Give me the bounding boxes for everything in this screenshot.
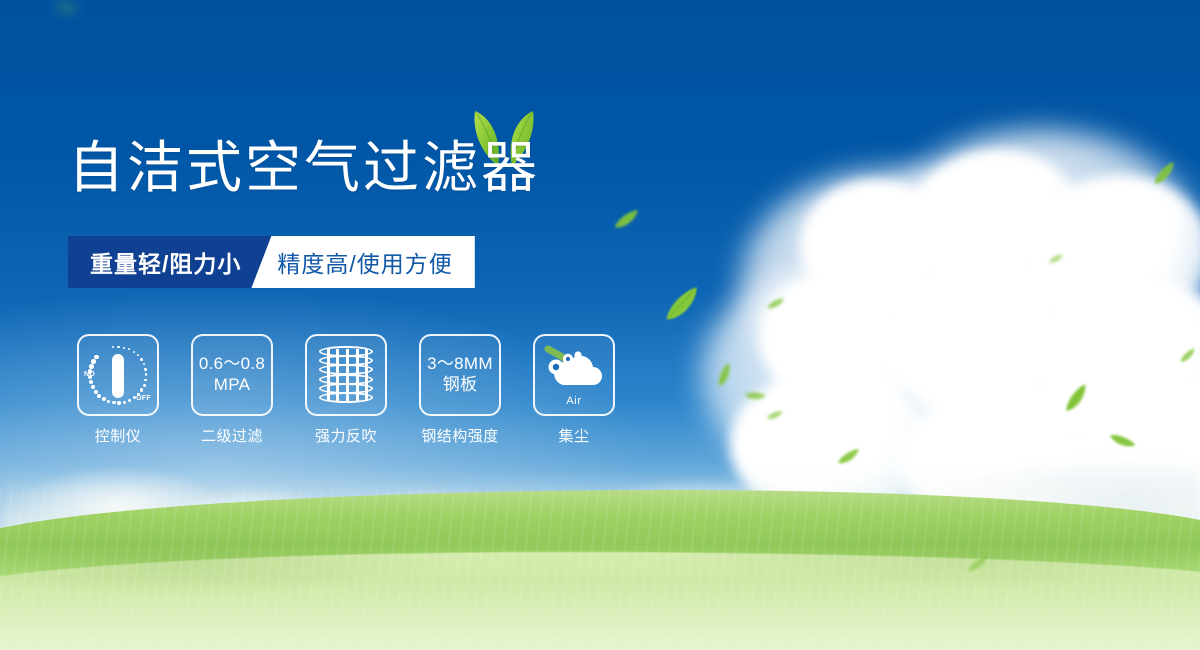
- product-banner: 自洁式空气过滤器 重量轻/阻力小 精度高/使用方便 NO OFF 控制仪 0.6…: [0, 0, 1200, 650]
- pressure-text-icon: 0.6～0.8 MPA: [191, 334, 273, 416]
- subtitle-bar: 重量轻/阻力小 精度高/使用方便: [68, 236, 475, 288]
- gauge-dial-icon: NO OFF: [77, 334, 159, 416]
- grass-field: [0, 490, 1200, 650]
- feature-item-filtration[interactable]: 0.6～0.8 MPA 二级过滤: [186, 334, 278, 446]
- air-cloud-icon: Air: [533, 334, 615, 416]
- subtitle-left: 重量轻/阻力小: [68, 236, 271, 288]
- steel-line-2: 钢板: [443, 375, 478, 396]
- feature-label: 控制仪: [95, 425, 142, 446]
- feature-list: NO OFF 控制仪 0.6～0.8 MPA 二级过滤 强力反吹 3～8MM: [72, 334, 620, 446]
- feature-item-control[interactable]: NO OFF 控制仪: [72, 334, 164, 446]
- feature-item-steel[interactable]: 3～8MM 钢板 钢结构强度: [414, 334, 506, 446]
- feature-label: 集尘: [558, 425, 589, 446]
- feature-item-dust[interactable]: Air 集尘: [528, 334, 620, 446]
- pressure-line-2: MPA: [214, 375, 250, 396]
- steel-plate-text-icon: 3～8MM 钢板: [419, 334, 501, 416]
- feature-item-blowback[interactable]: 强力反吹: [300, 334, 392, 446]
- coil-filter-icon: [305, 334, 387, 416]
- feature-label: 强力反吹: [315, 425, 377, 446]
- feature-label: 二级过滤: [201, 425, 263, 446]
- air-text: Air: [566, 395, 581, 408]
- cloud-dust-glyph: [543, 342, 605, 394]
- steel-line-1: 3～8MM: [427, 354, 493, 375]
- subtitle-right: 精度高/使用方便: [251, 236, 474, 288]
- page-title: 自洁式空气过滤器: [68, 140, 540, 196]
- feature-label: 钢结构强度: [421, 425, 499, 446]
- gauge-off-label: OFF: [136, 395, 151, 402]
- pressure-line-1: 0.6～0.8: [199, 354, 265, 375]
